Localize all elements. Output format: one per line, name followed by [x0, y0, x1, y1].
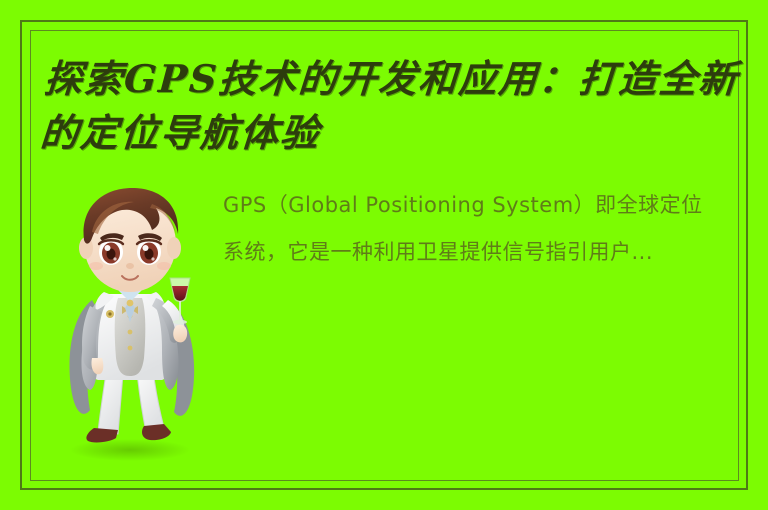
chibi-man-with-wine-glass-illustration: [40, 182, 220, 462]
article-title: 探索GPS技术的开发和应用：打造全新的定位导航体验: [38, 52, 758, 160]
article-card: 探索GPS技术的开发和应用：打造全新的定位导航体验: [0, 0, 768, 510]
article-excerpt: GPS（Global Positioning System）即全球定位系统，它是…: [223, 182, 723, 276]
